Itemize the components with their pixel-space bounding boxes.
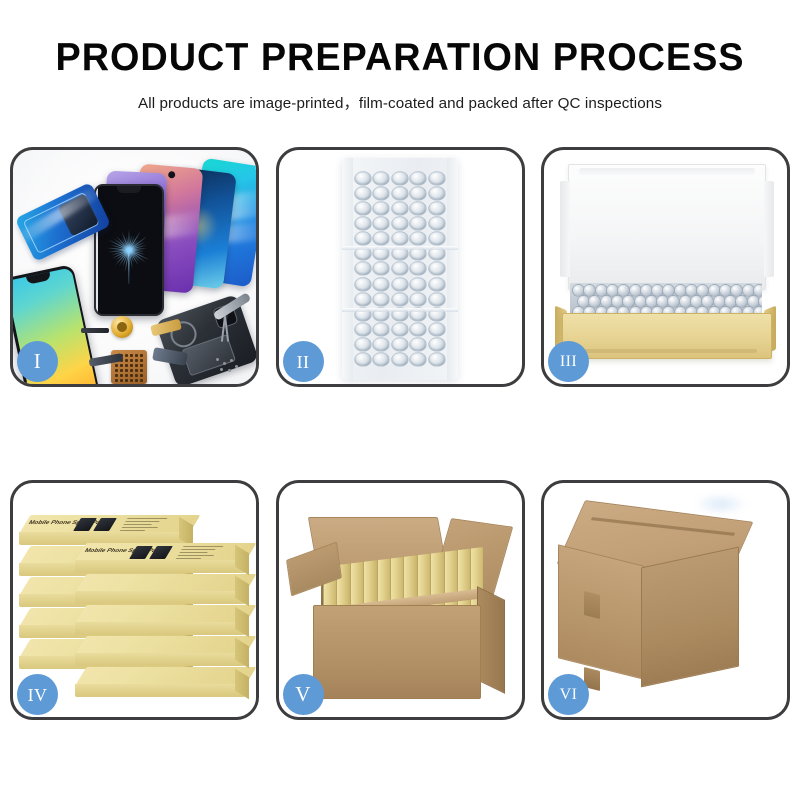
bubble xyxy=(391,232,409,247)
step-panel-frame: V xyxy=(276,480,525,720)
bubble xyxy=(428,292,446,307)
retail-box: Mobile Phone Spare Parts xyxy=(19,515,189,542)
box-front-face xyxy=(75,622,245,635)
bubble xyxy=(391,352,409,367)
mailer-lid xyxy=(568,164,766,290)
loose-screw xyxy=(216,358,219,361)
bubble xyxy=(428,201,446,216)
bubble xyxy=(391,186,409,201)
mailer-tab-left xyxy=(560,181,570,277)
bubble xyxy=(354,322,372,337)
screw-dot xyxy=(125,374,128,377)
screw-dot xyxy=(120,369,123,372)
step-panel-frame: VI xyxy=(541,480,790,720)
box-front-face xyxy=(75,591,245,604)
step-panel-frame: III xyxy=(541,147,790,387)
process-step-grid: 08:06 xyxy=(10,147,790,747)
bubble-wrapped-contents xyxy=(570,283,762,317)
bubble xyxy=(409,262,427,277)
process-step-1: 08:06 xyxy=(10,147,259,387)
bubble xyxy=(428,186,446,201)
background-highlight xyxy=(694,493,748,515)
bubble xyxy=(409,292,427,307)
screw-dot xyxy=(130,364,133,367)
bubble xyxy=(354,277,372,292)
step-badge-3: III xyxy=(548,341,589,382)
process-step-4: Mobile Phone Spare PartsMobile Phone Spa… xyxy=(10,480,259,720)
step-panel-frame: 08:06 xyxy=(10,147,259,387)
box-front-face xyxy=(75,653,245,666)
screw-dot xyxy=(125,379,128,382)
screw-dot xyxy=(125,359,128,362)
carton-side-right xyxy=(477,586,505,694)
bubble xyxy=(373,292,391,307)
screw-dot xyxy=(120,374,123,377)
screw-dot xyxy=(130,369,133,372)
screw-dot xyxy=(125,354,128,357)
tempered-glass-protector xyxy=(94,184,164,316)
process-step-6: VI xyxy=(541,480,790,720)
bubble xyxy=(391,201,409,216)
step-panel-frame: II xyxy=(276,147,525,387)
bubble xyxy=(428,216,446,231)
bubble xyxy=(428,171,446,186)
bubble xyxy=(391,262,409,277)
bubble xyxy=(409,232,427,247)
bubble xyxy=(391,292,409,307)
antenna-bar-part xyxy=(81,328,109,333)
mailer-tab-right xyxy=(764,181,774,277)
pouch-edge-right xyxy=(447,158,458,380)
screw-dot xyxy=(130,359,133,362)
bubble xyxy=(373,277,391,292)
loose-screw xyxy=(230,359,233,362)
screw-set-part xyxy=(216,358,238,374)
bubble xyxy=(409,322,427,337)
screw-dot xyxy=(120,364,123,367)
retail-box xyxy=(75,636,245,663)
screw-dot xyxy=(140,359,143,362)
mailer-front-panel xyxy=(562,313,772,359)
bubble xyxy=(409,186,427,201)
step-badge-6: VI xyxy=(548,674,589,715)
screw-dot xyxy=(135,374,138,377)
bubble xyxy=(373,232,391,247)
step-badge-2: II xyxy=(283,341,324,382)
screw-dot xyxy=(135,354,138,357)
screw-dot xyxy=(140,354,143,357)
product-preparation-infographic: PRODUCT PREPARATION PROCESS All products… xyxy=(0,0,800,800)
sealed-carton-left-face xyxy=(558,544,644,679)
bubble xyxy=(373,262,391,277)
tweezers-tool xyxy=(212,316,238,342)
bubble xyxy=(354,292,372,307)
screw-dot xyxy=(115,379,118,382)
gold-coil-part xyxy=(111,316,133,338)
sealed-carton-front-face xyxy=(641,547,739,688)
step-panel-frame: Mobile Phone Spare PartsMobile Phone Spa… xyxy=(10,480,259,720)
bubble xyxy=(373,171,391,186)
loose-screw xyxy=(220,368,223,371)
bubble xyxy=(391,216,409,231)
bubble xyxy=(354,232,372,247)
screw-dot xyxy=(140,364,143,367)
film-dark-area xyxy=(58,194,99,237)
loose-screw xyxy=(235,365,238,368)
bubble xyxy=(409,277,427,292)
screw-dot xyxy=(135,359,138,362)
bubble xyxy=(354,337,372,352)
box-front-face xyxy=(75,684,245,697)
bubble xyxy=(391,277,409,292)
bubble xyxy=(409,352,427,367)
bubble xyxy=(391,337,409,352)
bubble xyxy=(409,216,427,231)
bubble xyxy=(428,262,446,277)
bubble xyxy=(354,201,372,216)
retail-box xyxy=(75,667,245,694)
bubble-grid xyxy=(354,171,446,367)
bubble xyxy=(409,201,427,216)
screw-dot xyxy=(130,379,133,382)
screw-dot xyxy=(140,379,143,382)
pouch-edge-left xyxy=(342,158,353,380)
screw-dot xyxy=(130,354,133,357)
bubble xyxy=(391,171,409,186)
carton-tape-upper xyxy=(584,591,600,619)
retail-box: Mobile Phone Spare Parts xyxy=(75,543,245,570)
screw-dot xyxy=(130,374,133,377)
screw-dot xyxy=(140,374,143,377)
pouch-seam xyxy=(342,308,458,312)
bubble xyxy=(373,337,391,352)
bubble xyxy=(409,171,427,186)
dandelion-wallpaper xyxy=(106,227,152,273)
bubble xyxy=(428,337,446,352)
step-badge-5: V xyxy=(283,674,324,715)
bubble xyxy=(409,337,427,352)
carton-front-panel xyxy=(313,605,481,699)
loose-screw xyxy=(228,369,231,372)
box-front-face xyxy=(75,560,245,573)
step-badge-1: I xyxy=(17,341,58,382)
screw-dot xyxy=(135,364,138,367)
retail-box xyxy=(75,605,245,632)
screw-dot xyxy=(135,369,138,372)
process-step-3: III xyxy=(541,147,790,387)
screw-dot xyxy=(120,379,123,382)
bubble xyxy=(428,277,446,292)
loose-screw xyxy=(223,362,226,365)
bubble-wrap-pouch xyxy=(342,158,458,380)
screw-dot xyxy=(125,369,128,372)
bubble xyxy=(354,171,372,186)
retail-box xyxy=(75,574,245,601)
screen-notch xyxy=(117,186,141,193)
screw-dot xyxy=(125,364,128,367)
page-subtitle: All products are image-printed，film-coat… xyxy=(0,91,800,113)
pouch-seam xyxy=(342,246,458,250)
bubble xyxy=(373,201,391,216)
bubble xyxy=(428,322,446,337)
bubble xyxy=(354,216,372,231)
screw-dot xyxy=(115,364,118,367)
process-step-5: V xyxy=(276,480,525,720)
header: PRODUCT PREPARATION PROCESS All products… xyxy=(0,0,800,113)
bubble xyxy=(373,216,391,231)
bubble xyxy=(428,232,446,247)
wallpaper-stem xyxy=(128,250,129,284)
page-title: PRODUCT PREPARATION PROCESS xyxy=(12,38,788,77)
bubble xyxy=(373,186,391,201)
screw-dot xyxy=(135,379,138,382)
step-badge-4: IV xyxy=(17,674,58,715)
bubble xyxy=(354,352,372,367)
screw-dot xyxy=(115,369,118,372)
process-step-2: II xyxy=(276,147,525,387)
bubble xyxy=(354,262,372,277)
screw-dot xyxy=(115,374,118,377)
bubble xyxy=(373,322,391,337)
bubble xyxy=(428,352,446,367)
bubble xyxy=(373,352,391,367)
screw-dot xyxy=(140,369,143,372)
bubble xyxy=(391,322,409,337)
bubble xyxy=(354,186,372,201)
